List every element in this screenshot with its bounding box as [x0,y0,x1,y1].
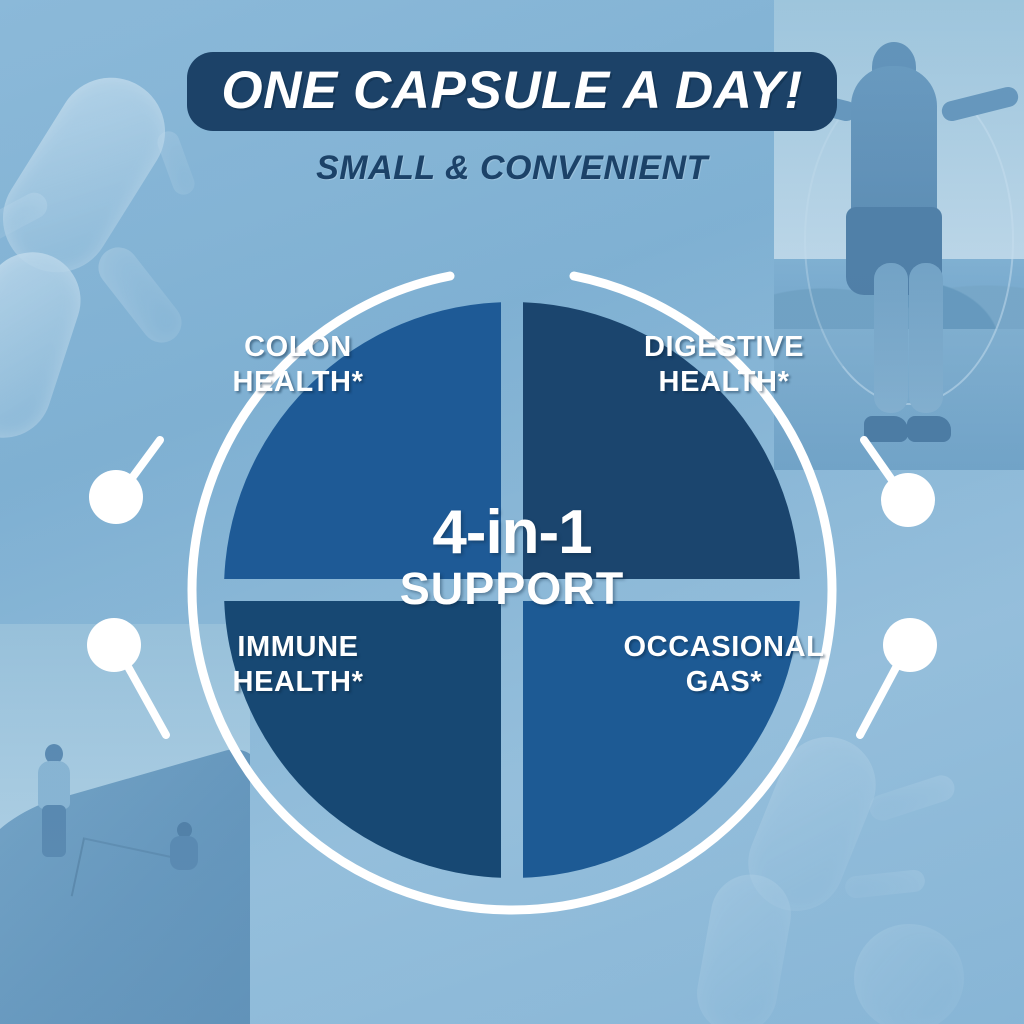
label-digestive-health-line2: HEALTH* [594,365,854,400]
label-digestive-health-line1: DIGESTIVE [594,330,854,365]
label-immune-health-line2: HEALTH* [168,665,428,700]
four-in-one-support-wheel: COLON HEALTH* DIGESTIVE HEALTH* IMMUNE H… [112,190,912,990]
dot-bottom-right [883,618,937,672]
label-occasional-gas: OCCASIONAL GAS* [594,630,854,701]
page-subtitle: SMALL & CONVENIENT [0,149,1024,188]
label-immune-health-line1: IMMUNE [168,630,428,665]
header: ONE CAPSULE A DAY! SMALL & CONVENIENT [0,52,1024,188]
dot-top-left [89,470,143,524]
dot-bottom-left [87,618,141,672]
label-colon-health-line1: COLON [168,330,428,365]
dot-top-right [881,473,935,527]
infographic-canvas: ONE CAPSULE A DAY! SMALL & CONVENIENT [0,0,1024,1024]
label-digestive-health: DIGESTIVE HEALTH* [594,330,854,401]
label-occasional-gas-line2: GAS* [594,665,854,700]
label-colon-health-line2: HEALTH* [168,365,428,400]
page-title: ONE CAPSULE A DAY! [187,52,836,131]
label-occasional-gas-line1: OCCASIONAL [594,630,854,665]
label-colon-health: COLON HEALTH* [168,330,428,401]
label-immune-health: IMMUNE HEALTH* [168,630,428,701]
